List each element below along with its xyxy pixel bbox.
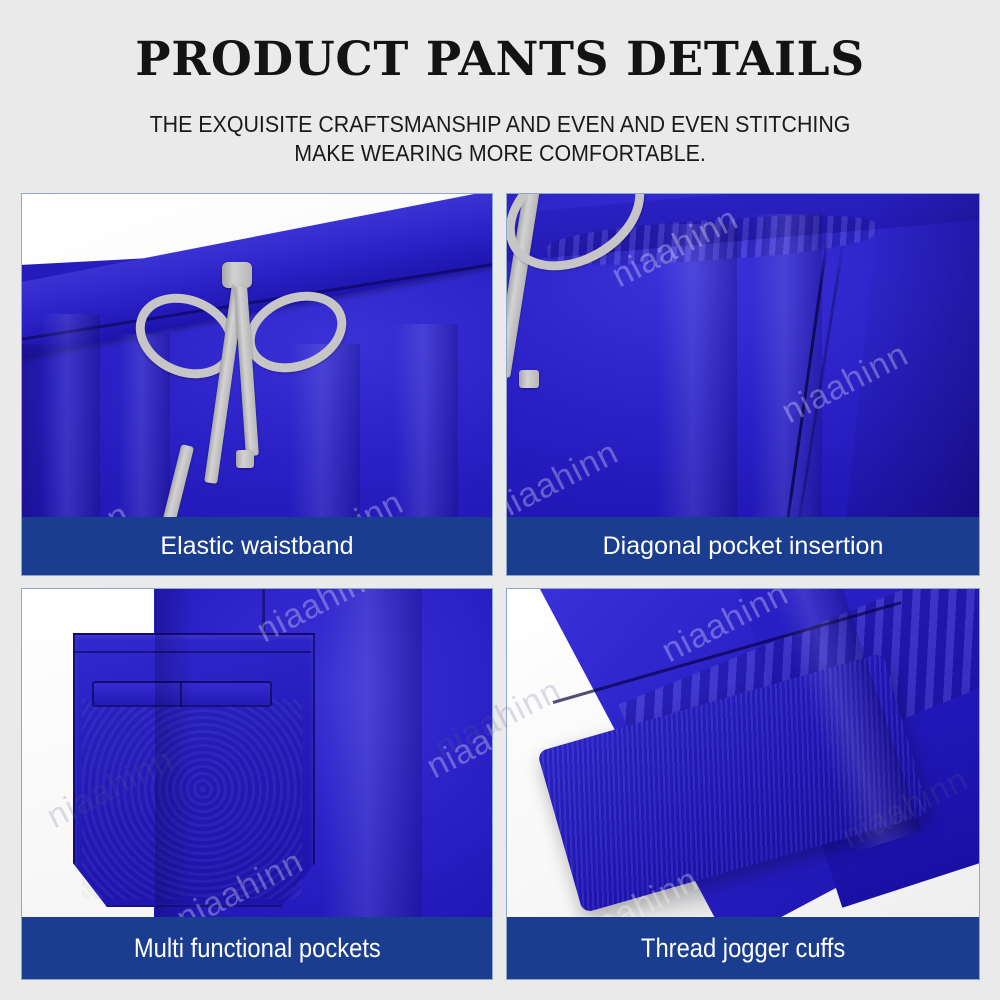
panel-caption-thread-jogger-cuffs: Thread jogger cuffs (507, 917, 979, 979)
detail-panel-elastic-waistband[interactable]: niaahinn niaahinn niaahinn Elastic waist… (21, 193, 493, 576)
detail-panel-diagonal-pocket[interactable]: niaahinn niaahinn niaahinn Diagonal pock… (506, 193, 980, 576)
subtitle-line-1: THE EXQUISITE CRAFTSMANSHIP AND EVEN AND… (35, 110, 965, 139)
center-back-seam (262, 589, 265, 633)
detail-panel-grid: niaahinn niaahinn niaahinn Elastic waist… (21, 193, 980, 980)
detail-panel-multi-functional-pockets[interactable]: niaahinn niaahinn niaahinn niaahinn Mult… (21, 588, 493, 980)
page-subtitle: THE EXQUISITE CRAFTSMANSHIP AND EVEN AND… (35, 110, 965, 168)
header: PRODUCT PANTS DETAILS THE EXQUISITE CRAF… (0, 0, 1000, 193)
subtitle-line-2: MAKE WEARING MORE COMFORTABLE. (35, 139, 965, 168)
drawstring-tip (519, 370, 539, 388)
panel-caption-multi-functional-pockets: Multi functional pockets (22, 917, 492, 979)
product-detail-page: PRODUCT PANTS DETAILS THE EXQUISITE CRAF… (0, 0, 1000, 1000)
detail-panel-thread-jogger-cuffs[interactable]: niaahinn niaahinn niaahinn Thread jogger… (506, 588, 980, 980)
panel-caption-elastic-waistband: Elastic waistband (22, 517, 492, 575)
page-title: PRODUCT PANTS DETAILS (0, 36, 1000, 84)
panel-caption-diagonal-pocket: Diagonal pocket insertion (507, 517, 979, 575)
drawstring-tip-right (236, 450, 254, 468)
